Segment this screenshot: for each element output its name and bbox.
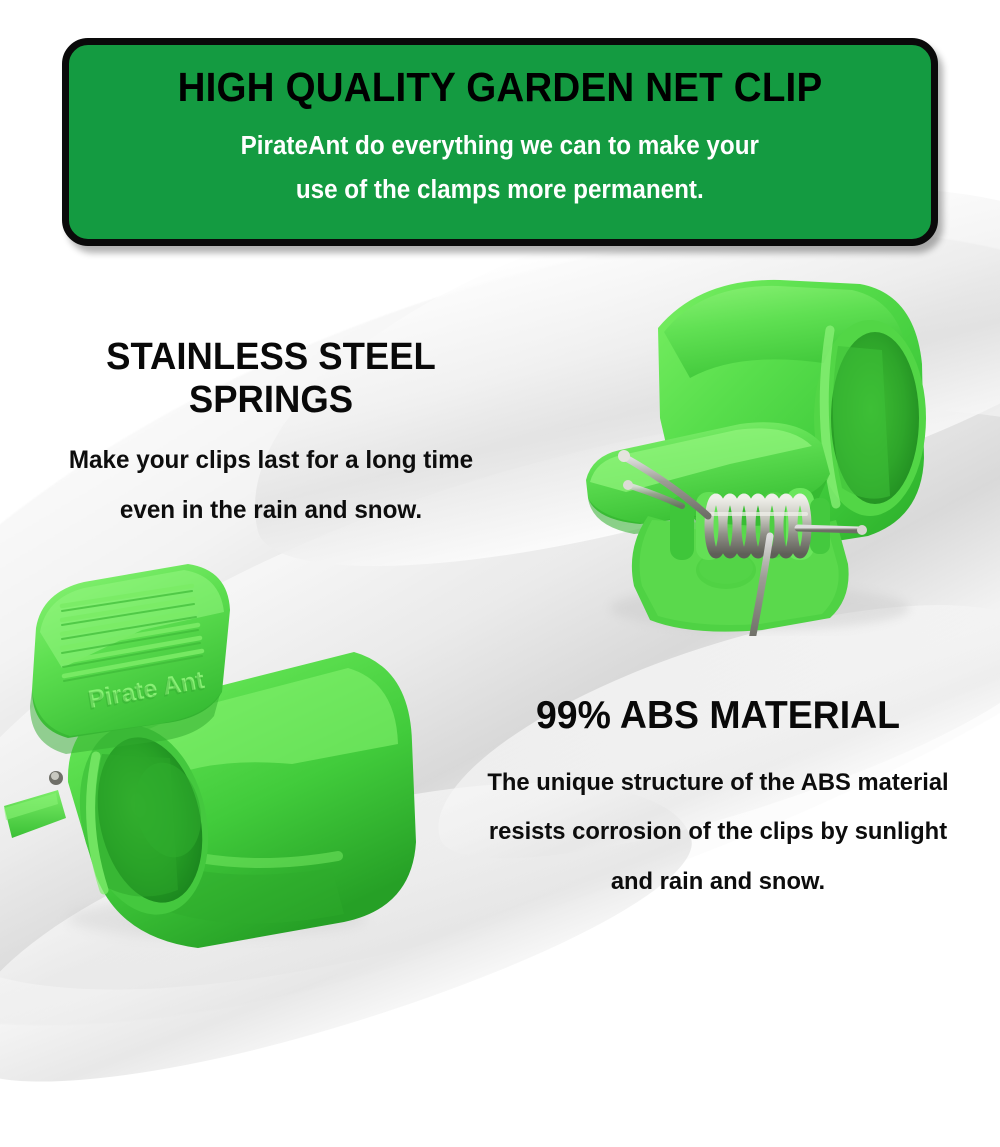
feature-heading-line-1: STAINLESS STEEL [17, 336, 526, 379]
feature-abs-material: 99% ABS MATERIAL The unique structure of… [438, 694, 998, 906]
feature-body-line-1: The unique structure of the ABS material [446, 758, 989, 807]
feature-heading: 99% ABS MATERIAL [449, 694, 987, 738]
header-banner: HIGH QUALITY GARDEN NET CLIP PirateAnt d… [62, 38, 938, 246]
feature-body-line-2: resists corrosion of the clips by sunlig… [446, 807, 989, 856]
clip-spring-view-illustration [530, 268, 942, 636]
feature-stainless-steel-springs: STAINLESS STEEL SPRINGS Make your clips … [6, 336, 536, 535]
feature-body: The unique structure of the ABS material… [446, 758, 989, 906]
banner-title: HIGH QUALITY GARDEN NET CLIP [178, 66, 823, 109]
banner-subtitle: PirateAnt do everything we can to make y… [227, 125, 773, 213]
feature-heading-line-1: 99% ABS MATERIAL [449, 694, 987, 738]
banner-subtitle-line-2: use of the clamps more permanent. [241, 169, 759, 213]
clip-branded-view-illustration: Pirate Ant Pirate Ant [0, 556, 422, 948]
feature-body: Make your clips last for a long time eve… [14, 435, 528, 535]
feature-heading-line-2: SPRINGS [17, 379, 526, 422]
feature-heading: STAINLESS STEEL SPRINGS [17, 336, 526, 421]
feature-body-line-1: Make your clips last for a long time [14, 435, 528, 485]
feature-body-line-3: and rain and snow. [446, 857, 989, 906]
product-image-clip-spring-view [530, 268, 942, 636]
feature-body-line-2: even in the rain and snow. [14, 485, 528, 535]
banner-subtitle-line-1: PirateAnt do everything we can to make y… [241, 125, 759, 169]
product-image-clip-branded-view: Pirate Ant Pirate Ant [0, 556, 422, 948]
